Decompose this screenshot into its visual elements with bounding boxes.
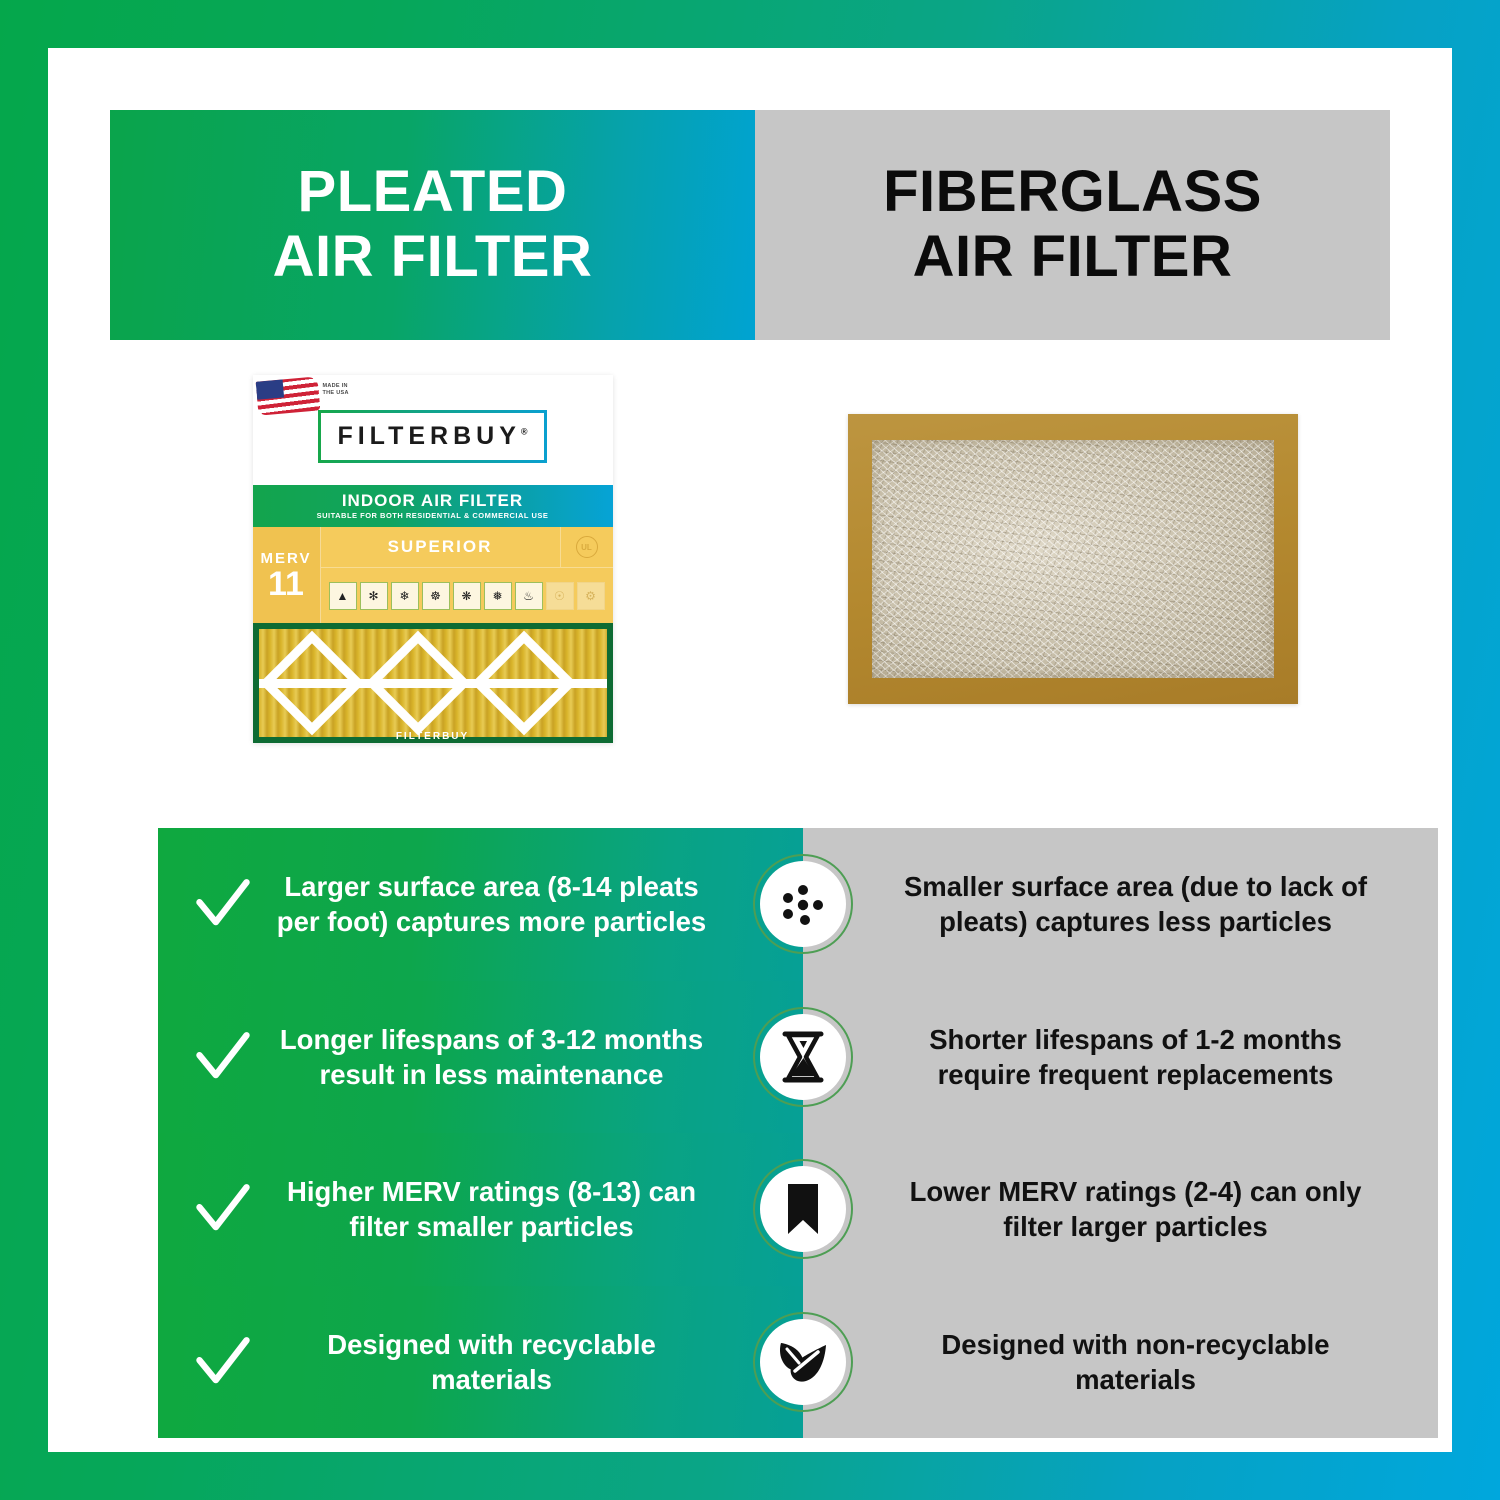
merv-value: 11 — [268, 567, 304, 601]
row-badge — [753, 1312, 853, 1412]
made-in-line1: MADE IN — [323, 383, 349, 390]
made-in-usa-label: MADE IN THE USA — [323, 383, 349, 397]
comparison-row-right: Designed with non-recyclable materials — [803, 1286, 1438, 1439]
row-badge — [753, 1159, 853, 1259]
header-band: PLEATED AIR FILTER FIBERGLASS AIR FILTER — [110, 110, 1390, 340]
virus-icon: ⚙ — [577, 582, 605, 610]
band-headline: INDOOR AIR FILTER — [342, 491, 523, 511]
tier-row: SUPERIOR UL — [321, 527, 613, 568]
fiberglass-drawback-text: Designed with non-recyclable materials — [893, 1327, 1378, 1397]
infographic-page: PLEATED AIR FILTER FIBERGLASS AIR FILTER — [0, 0, 1500, 1500]
registered-mark: ® — [521, 426, 528, 436]
merv-label: MERV — [260, 550, 311, 567]
dust-icon: ▲ — [329, 582, 357, 610]
fiberglass-drawback-text: Shorter lifespans of 1-2 months require … — [893, 1022, 1378, 1092]
comparison-row-left: Designed with recyclable materials — [158, 1286, 803, 1439]
row-badge — [753, 854, 853, 954]
comparison-row: Larger surface area (8-14 pleats per foo… — [158, 828, 1438, 981]
comparison-row-right: Lower MERV ratings (2-4) can only filter… — [803, 1133, 1438, 1286]
hourglass-icon — [774, 1028, 832, 1086]
checkmark-icon — [194, 1180, 252, 1238]
badge-disc — [760, 1014, 846, 1100]
row-badge — [753, 1007, 853, 1107]
mold-spores-icon: ☸ — [422, 582, 450, 610]
filterbuy-logo-text: FILTERBUY — [337, 422, 520, 450]
smoke-icon: ♨ — [515, 582, 543, 610]
filterbuy-logo: FILTERBUY® — [318, 410, 546, 463]
comparison-row-left: Larger surface area (8-14 pleats per foo… — [158, 828, 803, 981]
comparison-row: Designed with recyclable materials Desig… — [158, 1286, 1438, 1439]
badge-disc — [760, 1319, 846, 1405]
box-top-section: MADE IN THE USA FILTERBUY® — [253, 375, 613, 485]
pleated-benefit-text: Longer lifespans of 3-12 months result i… — [274, 1022, 769, 1092]
comparison-row-left: Higher MERV ratings (8-13) can filter sm… — [158, 1133, 803, 1286]
insect-icon: ✻ — [360, 582, 388, 610]
badge-disc — [760, 861, 846, 947]
header-fiberglass: FIBERGLASS AIR FILTER — [755, 110, 1390, 340]
header-pleated-line2: AIR FILTER — [273, 225, 593, 290]
comparison-row-right: Smaller surface area (due to lack of ple… — [803, 828, 1438, 981]
diamond-support-2 — [365, 631, 470, 736]
pet-dander-icon: ❅ — [484, 582, 512, 610]
header-pleated-line1: PLEATED — [273, 160, 593, 225]
box-spec-section: MERV 11 SUPERIOR UL ▲ — [253, 527, 613, 623]
checkmark-icon — [194, 1028, 252, 1086]
bookmark-icon — [778, 1180, 828, 1238]
comparison-row-left: Longer lifespans of 3-12 months result i… — [158, 981, 803, 1134]
header-fiberglass-line1: FIBERGLASS — [883, 160, 1262, 225]
captured-particle-icons: ▲ ✻ ❄ ☸ ❋ ❅ ♨ ☉ ⚙ — [321, 568, 613, 623]
pleated-benefit-text: Larger surface area (8-14 pleats per foo… — [274, 869, 769, 939]
particles-icon — [772, 873, 834, 935]
header-fiberglass-title: FIBERGLASS AIR FILTER — [883, 160, 1262, 290]
pollen-icon: ❄ — [391, 582, 419, 610]
box-bottom-brand: FILTERBUY — [253, 731, 613, 742]
comparison-row: Longer lifespans of 3-12 months result i… — [158, 981, 1438, 1134]
spec-main: SUPERIOR UL ▲ ✻ ❄ ☸ ❋ — [321, 527, 613, 623]
pleat-media — [259, 629, 607, 737]
badge-disc — [760, 1166, 846, 1252]
fiberglass-drawback-text: Smaller surface area (due to lack of ple… — [893, 869, 1378, 939]
bacteria-icon: ❋ — [453, 582, 481, 610]
fiberglass-drawback-text: Lower MERV ratings (2-4) can only filter… — [893, 1174, 1378, 1244]
made-in-line2: THE USA — [323, 390, 349, 397]
pleated-filter-product-image: MADE IN THE USA FILTERBUY® INDOOR AIR FI… — [253, 375, 613, 743]
comparison-panel: Larger surface area (8-14 pleats per foo… — [158, 828, 1438, 1438]
box-indoor-air-filter-band: INDOOR AIR FILTER SUITABLE FOR BOTH RESI… — [253, 485, 613, 527]
ul-certification-badge: UL — [560, 527, 613, 567]
pleated-product-cell: MADE IN THE USA FILTERBUY® INDOOR AIR FI… — [110, 340, 755, 778]
checkmark-icon — [194, 875, 252, 933]
header-pleated: PLEATED AIR FILTER — [110, 110, 755, 340]
ul-mark: UL — [576, 536, 598, 558]
fiberglass-mesh — [872, 440, 1274, 678]
band-subline: SUITABLE FOR BOTH RESIDENTIAL & COMMERCI… — [317, 512, 549, 521]
checkmark-icon — [194, 1333, 252, 1391]
pleated-benefit-text: Higher MERV ratings (8-13) can filter sm… — [274, 1174, 769, 1244]
diamond-support-3 — [471, 631, 576, 736]
odor-icon: ☉ — [546, 582, 574, 610]
merv-rating-block: MERV 11 — [253, 527, 321, 623]
header-pleated-title: PLEATED AIR FILTER — [273, 160, 593, 290]
diamond-support-1 — [259, 631, 364, 736]
pleated-media-view: FILTERBUY — [253, 623, 613, 743]
white-canvas: PLEATED AIR FILTER FIBERGLASS AIR FILTER — [48, 48, 1452, 1452]
product-image-row: MADE IN THE USA FILTERBUY® INDOOR AIR FI… — [110, 340, 1390, 778]
usa-flag-icon — [255, 376, 320, 415]
header-fiberglass-line2: AIR FILTER — [883, 225, 1262, 290]
fiberglass-filter-product-image — [848, 414, 1298, 704]
fiberglass-product-cell — [755, 340, 1390, 778]
leaf-icon — [773, 1333, 833, 1391]
pleated-benefit-text: Designed with recyclable materials — [274, 1327, 769, 1397]
comparison-row-right: Shorter lifespans of 1-2 months require … — [803, 981, 1438, 1134]
comparison-row: Higher MERV ratings (8-13) can filter sm… — [158, 1133, 1438, 1286]
tier-label: SUPERIOR — [321, 527, 560, 567]
